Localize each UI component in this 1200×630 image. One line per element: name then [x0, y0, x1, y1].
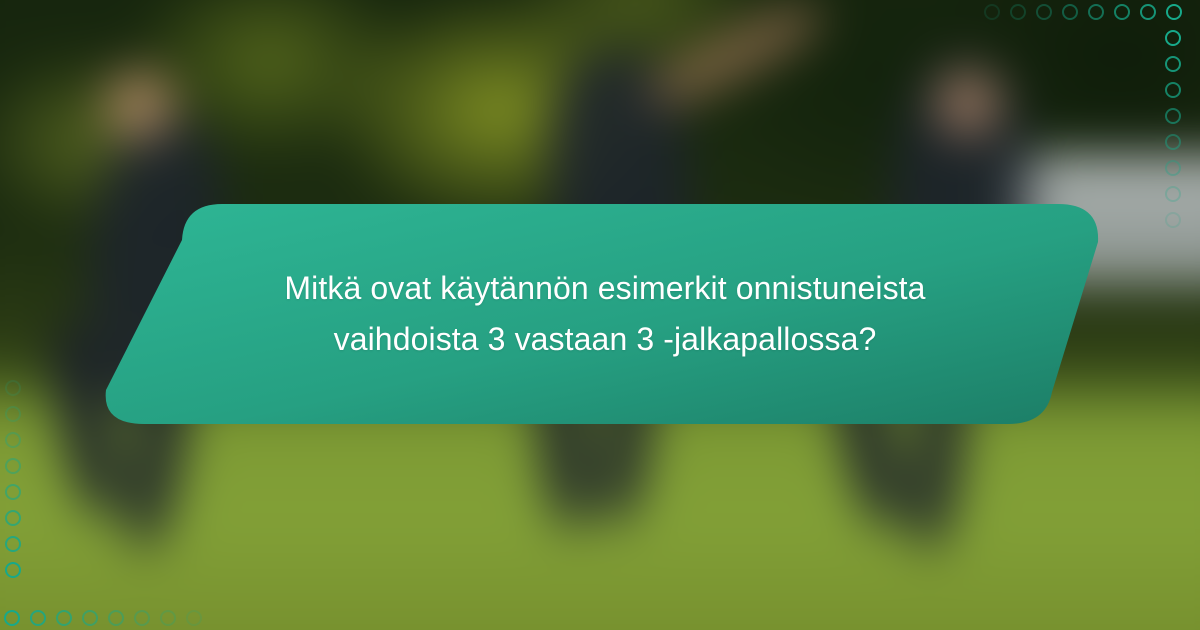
decor-dot — [5, 458, 21, 474]
decor-dot — [1036, 4, 1052, 20]
question-card: Mitkä ovat käytännön esimerkit onnistune… — [96, 200, 1102, 428]
decor-dots-left-column — [5, 380, 21, 578]
decor-dot — [4, 610, 20, 626]
decor-dot — [1062, 4, 1078, 20]
background-player-right-head — [935, 70, 1001, 136]
decor-dot — [1165, 56, 1181, 72]
decor-dot — [30, 610, 46, 626]
decor-dot — [82, 610, 98, 626]
decor-dot — [1088, 4, 1104, 20]
decor-dot — [5, 536, 21, 552]
decor-dots-top-right — [984, 4, 1182, 20]
question-text-container: Mitkä ovat käytännön esimerkit onnistune… — [96, 200, 1102, 428]
decor-dot — [5, 380, 21, 396]
decor-dot — [5, 484, 21, 500]
decor-dot — [1165, 212, 1181, 228]
decor-dot — [134, 610, 150, 626]
decor-dot — [1166, 4, 1182, 20]
decor-dot — [1140, 4, 1156, 20]
background-player-left-head — [105, 70, 175, 140]
decor-dot — [1165, 108, 1181, 124]
decor-dot — [5, 432, 21, 448]
decor-dot — [5, 406, 21, 422]
decor-dot — [56, 610, 72, 626]
decor-dot — [984, 4, 1000, 20]
decor-dot — [1165, 186, 1181, 202]
decor-dots-right-column — [1165, 30, 1181, 228]
decor-dot — [5, 510, 21, 526]
question-text: Mitkä ovat käytännön esimerkit onnistune… — [226, 263, 984, 364]
decor-dot — [1165, 82, 1181, 98]
decor-dot — [1165, 30, 1181, 46]
decor-dot — [1165, 160, 1181, 176]
decor-dot — [1010, 4, 1026, 20]
decor-dot — [1114, 4, 1130, 20]
decor-dot — [1165, 134, 1181, 150]
decor-dot — [186, 610, 202, 626]
decor-dot — [108, 610, 124, 626]
decor-dot — [160, 610, 176, 626]
decor-dot — [5, 562, 21, 578]
decor-dots-bottom-left — [4, 610, 202, 626]
slide-canvas: Mitkä ovat käytännön esimerkit onnistune… — [0, 0, 1200, 630]
